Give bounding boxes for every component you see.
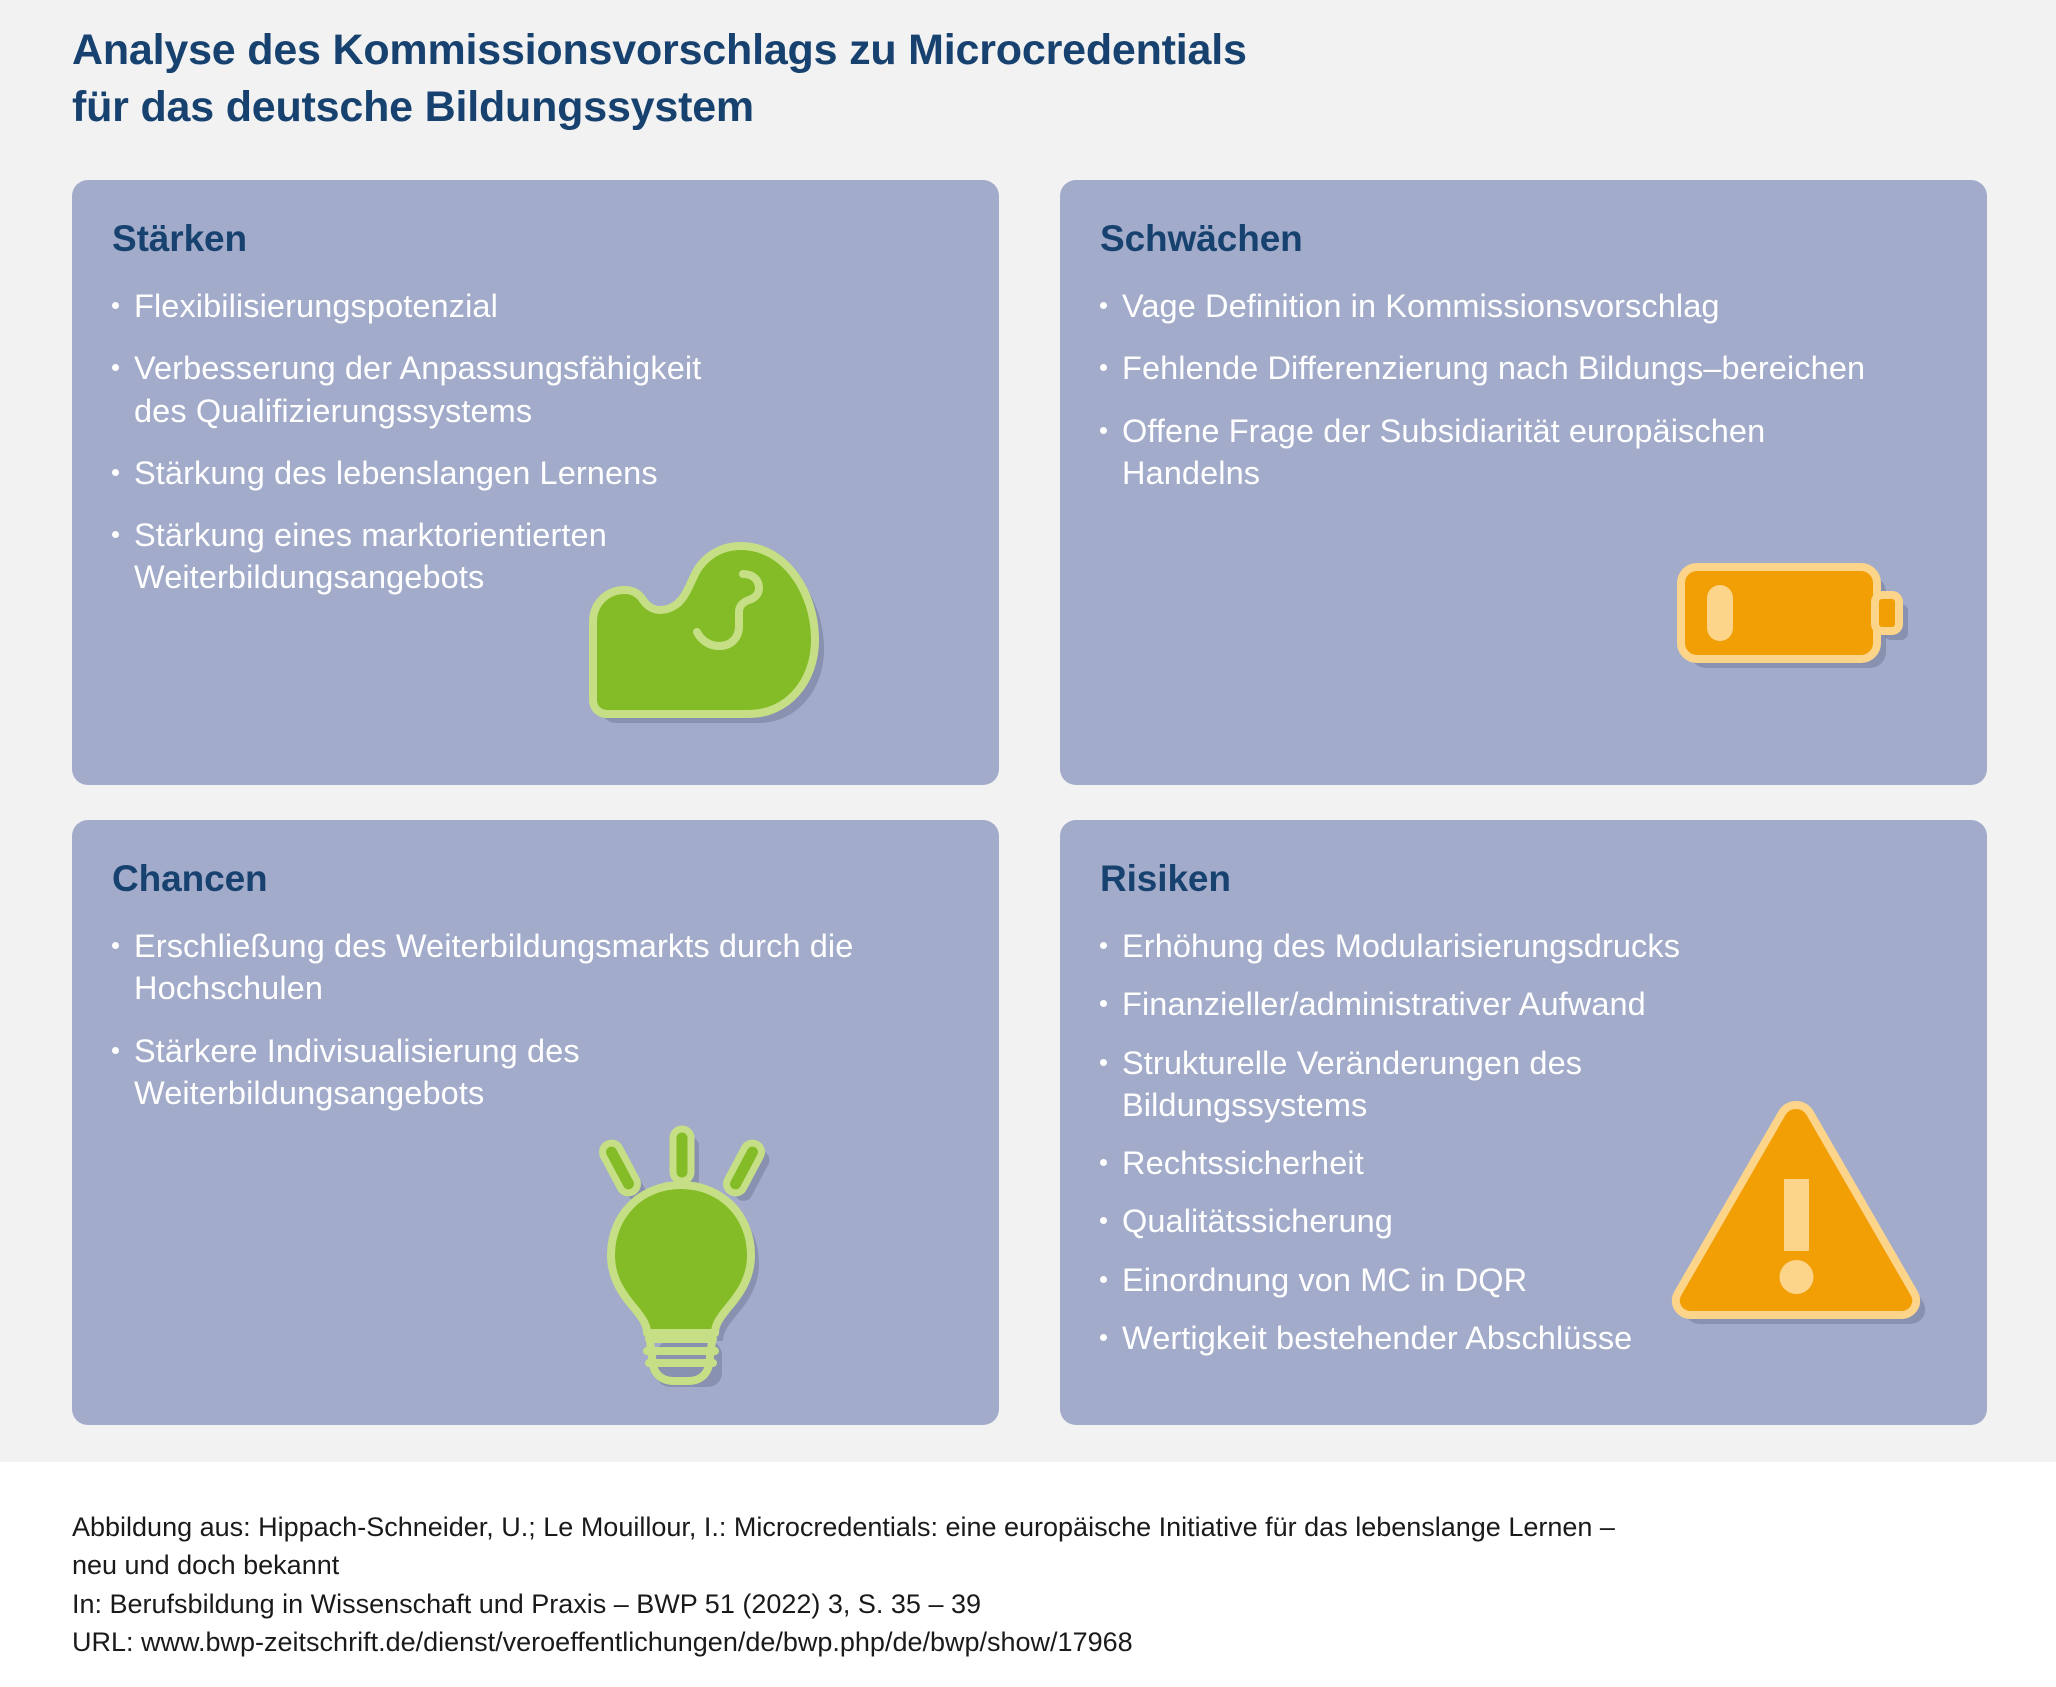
- source-caption: Abbildung aus: Hippach-Schneider, U.; Le…: [72, 1508, 1952, 1661]
- quadrant-risks-list: Erhöhung des Modularisierungsdrucks Fina…: [1092, 925, 1792, 1375]
- source-caption-line-3: In: Berufsbildung in Wissenschaft und Pr…: [72, 1585, 1952, 1623]
- list-item: Einordnung von MC in DQR: [1092, 1259, 1792, 1301]
- list-item: Offene Frage der Subsidiarität europäisc…: [1092, 410, 1892, 495]
- list-item: Stärkung des lebenslangen Lernens: [104, 452, 744, 494]
- page-title-line-1: Analyse des Kommissionsvorschlags zu Mic…: [72, 22, 1572, 79]
- quadrant-weaknesses-list: Vage Definition in Kommissionsvorschlag …: [1092, 285, 1892, 514]
- list-item: Stärkung eines marktorientierten Weiterb…: [104, 514, 744, 599]
- list-item: Strukturelle Veränderungen des Bildungss…: [1092, 1042, 1792, 1127]
- quadrant-weaknesses-heading: Schwächen: [1100, 218, 1303, 260]
- quadrant-strengths: Stärken Flexibilisierungspotenzial Verbe…: [72, 180, 999, 785]
- list-item: Vage Definition in Kommissionsvorschlag: [1092, 285, 1892, 327]
- list-item: Erschließung des Weiterbildungsmarkts du…: [104, 925, 904, 1010]
- quadrant-opportunities-heading: Chancen: [112, 858, 268, 900]
- swot-grid: Stärken Flexibilisierungspotenzial Verbe…: [72, 180, 1987, 1425]
- quadrant-strengths-list: Flexibilisierungspotenzial Verbesserung …: [104, 285, 744, 619]
- quadrant-risks-heading: Risiken: [1100, 858, 1231, 900]
- source-caption-line-4: URL: www.bwp-zeitschrift.de/dienst/veroe…: [72, 1623, 1952, 1661]
- list-item: Rechtssicherheit: [1092, 1142, 1792, 1184]
- list-item: Wertigkeit bestehender Abschlüsse: [1092, 1317, 1792, 1359]
- list-item: Stärkere Indivisualisierung des Weiterbi…: [104, 1030, 904, 1115]
- list-item: Flexibilisierungspotenzial: [104, 285, 744, 327]
- quadrant-weaknesses: Schwächen Vage Definition in Kommissions…: [1060, 180, 1987, 785]
- quadrant-opportunities: Chancen Erschließung des Weiterbildungsm…: [72, 820, 999, 1425]
- page-title-line-2: für das deutsche Bildungssystem: [72, 79, 1572, 136]
- page-title: Analyse des Kommissionsvorschlags zu Mic…: [72, 22, 1572, 136]
- battery-icon: [1679, 557, 1919, 677]
- quadrant-risks: Risiken Erhöhung des Modularisierungsdru…: [1060, 820, 1987, 1425]
- list-item: Erhöhung des Modularisierungsdrucks: [1092, 925, 1792, 967]
- lightbulb-icon: [593, 1127, 783, 1387]
- source-caption-line-2: neu und doch bekannt: [72, 1546, 1952, 1584]
- quadrant-strengths-heading: Stärken: [112, 218, 247, 260]
- list-item: Verbesserung der Anpassungsfähigkeit des…: [104, 347, 744, 432]
- quadrant-opportunities-list: Erschließung des Weiterbildungsmarkts du…: [104, 925, 904, 1134]
- list-item: Qualitätssicherung: [1092, 1200, 1792, 1242]
- list-item: Finanzieller/administrativer Aufwand: [1092, 983, 1792, 1025]
- source-caption-line-1: Abbildung aus: Hippach-Schneider, U.; Le…: [72, 1508, 1952, 1546]
- swot-infographic: Analyse des Kommissionsvorschlags zu Mic…: [0, 0, 2056, 1687]
- list-item: Fehlende Differenzierung nach Bildungs–b…: [1092, 347, 1892, 389]
